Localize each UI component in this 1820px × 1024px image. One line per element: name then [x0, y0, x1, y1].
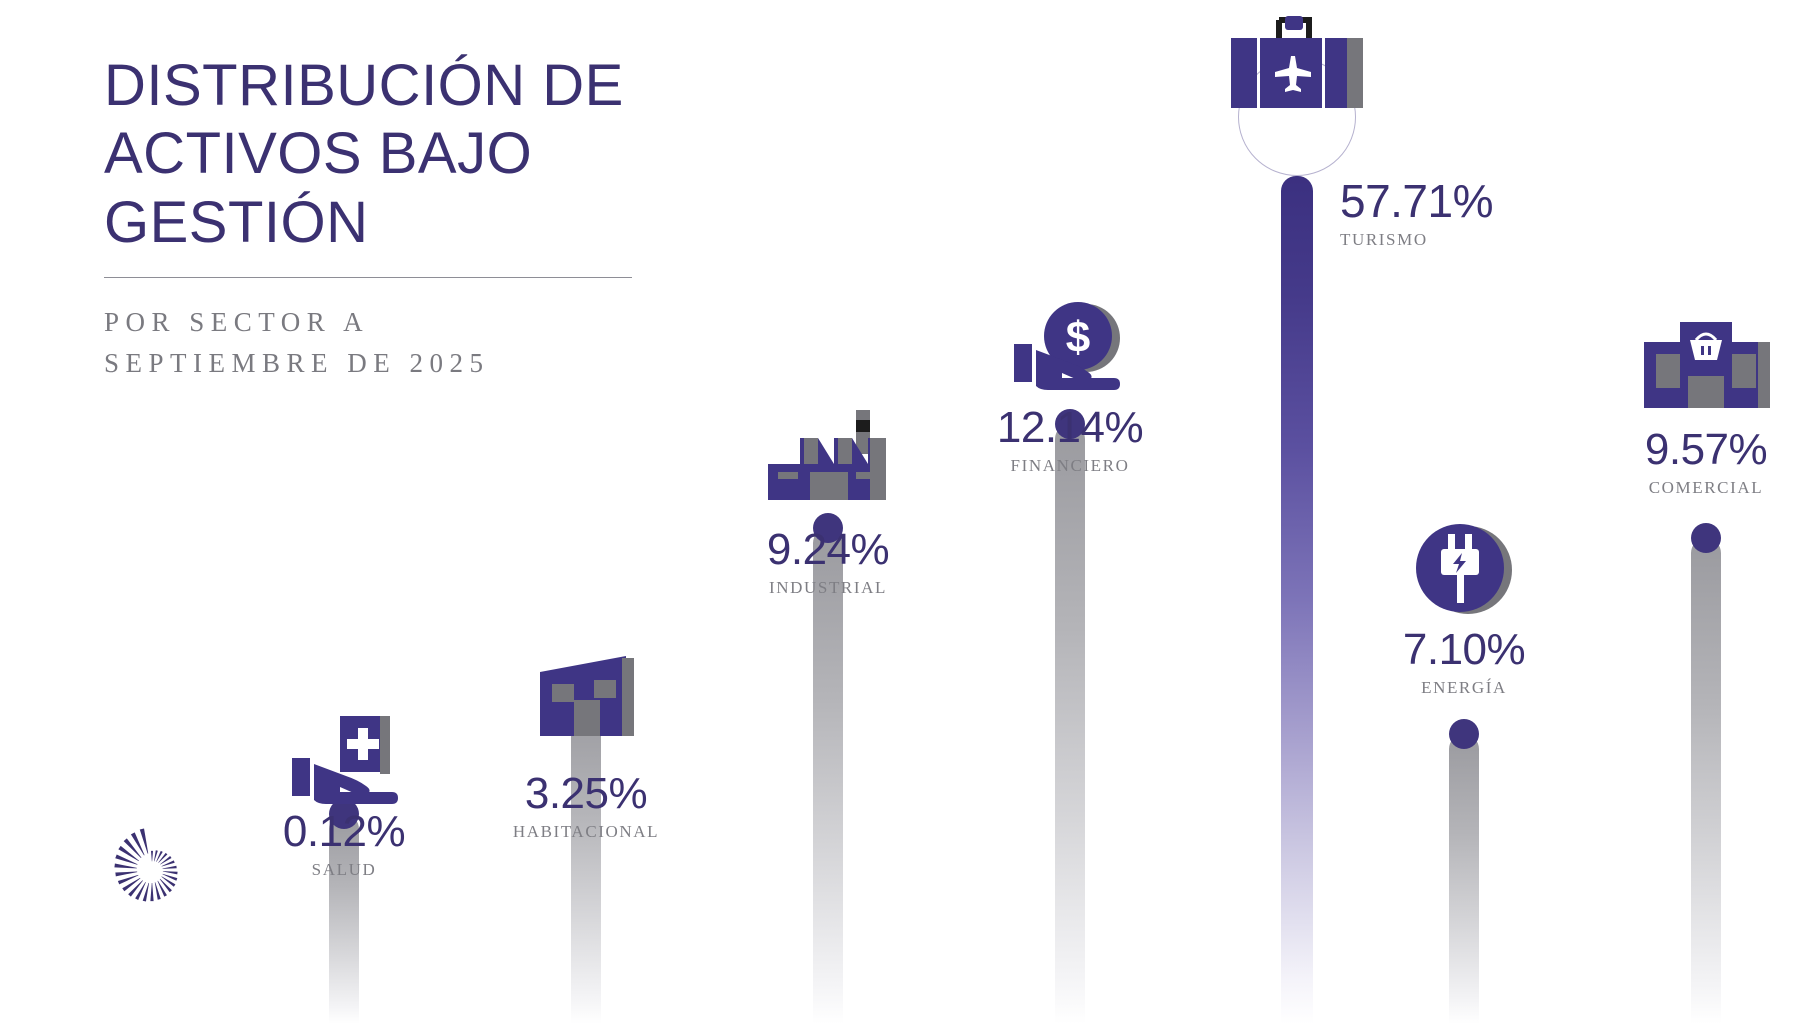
bar-industrial[interactable]	[813, 528, 843, 1024]
sector-label-energia: ENERGÍA	[1403, 679, 1525, 696]
label-stack-turismo: 57.71%TURISMO	[1340, 178, 1493, 248]
sector-label-salud: SALUD	[283, 861, 405, 878]
bar-energia[interactable]	[1449, 734, 1479, 1024]
factory-icon	[764, 404, 892, 508]
value-label-habitacional: 3.25%	[513, 772, 659, 816]
bar-cap-energia	[1449, 719, 1479, 749]
chart-column-turismo: 57.71%TURISMO	[1197, 0, 1397, 1024]
bar-cap-salud	[329, 799, 359, 829]
chart-column-financiero: $ 12.14%FINANCIERO	[970, 0, 1170, 1024]
bar-habitacional[interactable]	[571, 704, 601, 1024]
value-label-salud: 0.12%	[283, 810, 405, 854]
bar-cap-financiero	[1055, 409, 1085, 439]
bar-turismo[interactable]	[1281, 176, 1313, 1024]
svg-text:$: $	[1066, 313, 1090, 362]
bar-cap-comercial	[1691, 523, 1721, 553]
suitcase-airplane-icon	[1229, 14, 1365, 124]
bar-halo-ring-turismo	[1238, 58, 1356, 176]
value-label-comercial: 9.57%	[1645, 428, 1767, 472]
label-stack-comercial: 9.57%COMERCIAL	[1645, 428, 1767, 496]
chart-column-energia: 7.10%ENERGÍA	[1364, 0, 1564, 1024]
value-label-turismo: 57.71%	[1340, 178, 1493, 224]
sector-label-financiero: FINANCIERO	[997, 457, 1143, 474]
sector-label-comercial: COMERCIAL	[1645, 479, 1767, 496]
house-icon	[530, 648, 642, 744]
label-stack-energia: 7.10%ENERGÍA	[1403, 628, 1525, 696]
bar-comercial[interactable]	[1691, 538, 1721, 1024]
chart-column-habitacional: 3.25%HABITACIONAL	[486, 0, 686, 1024]
value-label-financiero: 12.14%	[997, 406, 1143, 450]
bar-cap-industrial	[813, 513, 843, 543]
hand-with-coin-icon: $	[1010, 298, 1130, 398]
chart-column-industrial: 9.24%INDUSTRIAL	[728, 0, 928, 1024]
infographic-canvas: DISTRIBUCIÓN DE ACTIVOS BAJO GESTIÓN POR…	[0, 0, 1820, 1024]
bar-cap-habitacional	[571, 689, 601, 719]
sector-label-industrial: INDUSTRIAL	[767, 579, 889, 596]
bar-salud[interactable]	[329, 814, 359, 1024]
value-label-industrial: 9.24%	[767, 528, 889, 572]
chart-column-comercial: 9.57%COMERCIAL	[1606, 0, 1806, 1024]
hand-with-medical-cross-icon	[288, 714, 400, 810]
chart-column-salud: 0.12%SALUD	[244, 0, 444, 1024]
store-basket-icon	[1638, 320, 1774, 416]
chart-plot-area: 0.12%SALUD 3.25%HABITACIONAL 9.24%INDUST…	[0, 0, 1820, 1024]
sector-label-habitacional: HABITACIONAL	[513, 823, 659, 840]
bar-financiero[interactable]	[1055, 424, 1085, 1024]
label-stack-industrial: 9.24%INDUSTRIAL	[767, 528, 889, 596]
sector-label-turismo: TURISMO	[1340, 231, 1493, 248]
label-stack-financiero: 12.14%FINANCIERO	[997, 406, 1143, 474]
label-stack-salud: 0.12%SALUD	[283, 810, 405, 878]
value-label-energia: 7.10%	[1403, 628, 1525, 672]
power-plug-circle-icon	[1408, 518, 1520, 622]
label-stack-habitacional: 3.25%HABITACIONAL	[513, 772, 659, 840]
